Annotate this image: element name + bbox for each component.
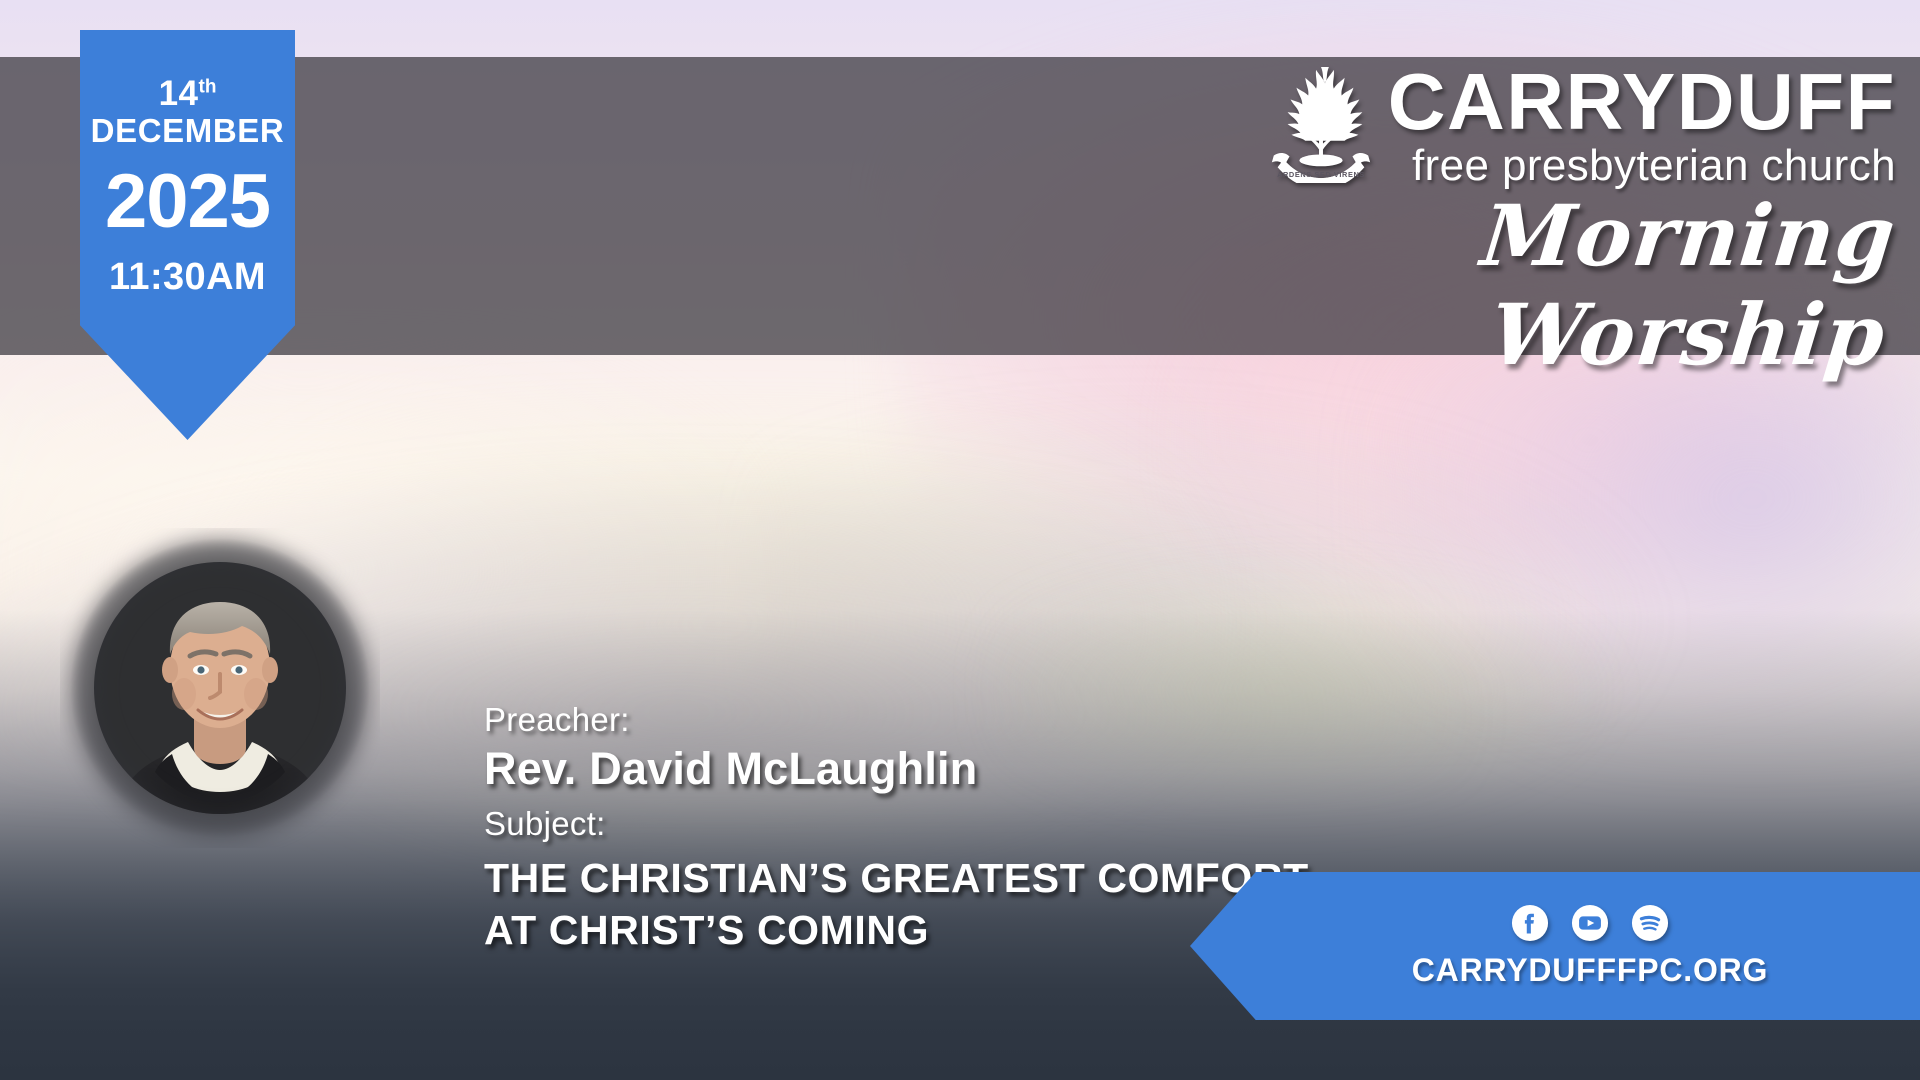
emblem-motto-text: ARDENS SED VIRENS [1277,170,1365,179]
burning-bush-emblem: ARDENS SED VIRENS [1262,63,1380,183]
preacher-label: Preacher: [484,700,1309,740]
service-day: 14th [80,76,295,111]
service-year: 2025 [80,164,295,240]
preacher-portrait [60,528,380,848]
service-time: 11:30AM [80,256,295,299]
church-logo-block: ARDENS SED VIRENS CARRYDUFF free presbyt… [1136,62,1896,384]
service-announcement-graphic: 14th DECEMBER 2025 11:30AM [0,0,1920,1080]
service-name-script: Morning Worship [1126,186,1907,384]
youtube-icon[interactable] [1571,904,1609,942]
social-footer-banner: CARRYDUFFFPC.ORG [1190,872,1920,1020]
service-info-block: Preacher: Rev. David McLaughlin Subject:… [484,700,1309,959]
subject-label: Subject: [484,804,1309,844]
subject-line-1: THE CHRISTIAN’S GREATEST COMFORT [484,849,1309,907]
church-name: CARRYDUFF [1388,62,1896,142]
website-url[interactable]: CARRYDUFFFPC.ORG [1412,952,1769,989]
facebook-icon[interactable] [1511,904,1549,942]
spotify-icon[interactable] [1631,904,1669,942]
service-day-ordinal: th [199,76,217,97]
subject-line-2: AT CHRIST’S COMING [484,901,1309,959]
preacher-name: Rev. David McLaughlin [484,742,1309,796]
service-day-number: 14 [159,74,199,113]
church-type: free presbyterian church [1412,144,1896,188]
service-month: DECEMBER [80,113,295,150]
